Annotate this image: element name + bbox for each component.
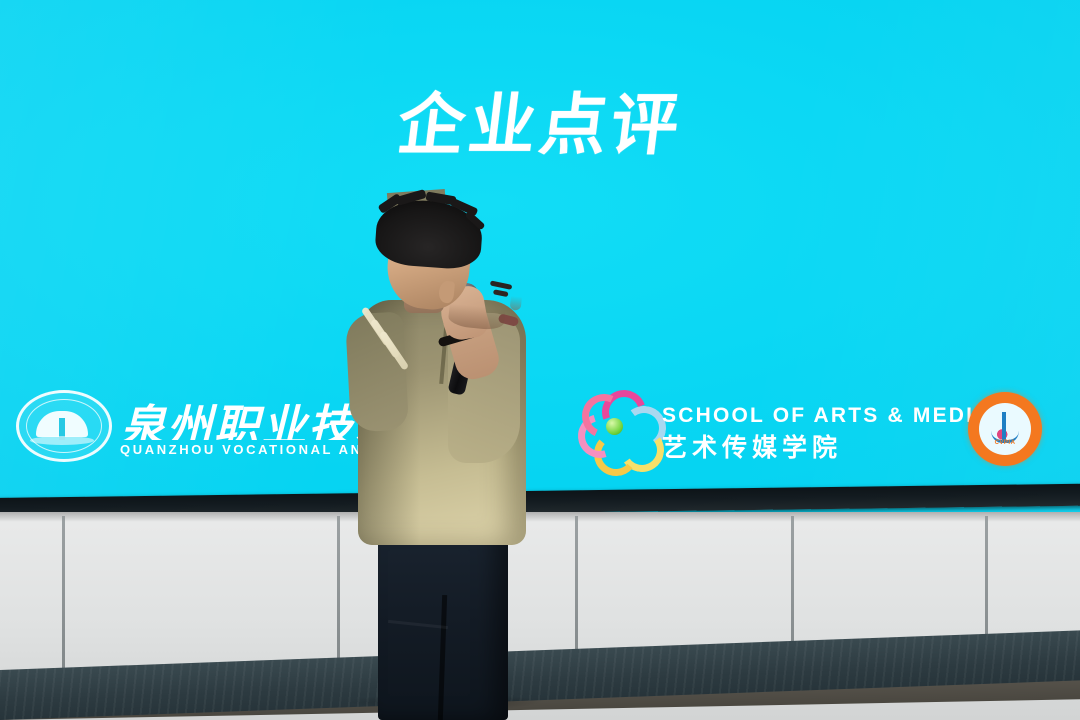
- speaker-eye: [493, 289, 509, 297]
- badge-glyph: [991, 412, 1019, 443]
- university-seal-icon: [14, 388, 114, 466]
- wall-panel-seam: [62, 516, 65, 686]
- school-name-cn: 艺术传媒学院: [662, 428, 842, 464]
- orange-badge-icon: CVPIA: [968, 392, 1042, 466]
- trouser-fold: [388, 620, 448, 629]
- trouser-center-seam: [438, 595, 447, 720]
- seal-wave-glyph: [30, 436, 94, 445]
- speaker-nose: [510, 296, 522, 311]
- presentation-photo: 企业点评 泉州职业技术 QUANZHOU VOCATIONAL AND TECH…: [0, 0, 1080, 720]
- speaker-eyebrow: [490, 280, 513, 289]
- speaker-trousers: [378, 525, 508, 720]
- pinwheel-icon: [576, 388, 654, 460]
- speaker-figure: [330, 195, 560, 720]
- badge-caption: CVPIA: [968, 440, 1042, 446]
- speaker-ear: [438, 280, 455, 303]
- school-name-en: SCHOOL OF ARTS & MEDIA: [662, 404, 992, 428]
- pinwheel-core-sphere: [606, 418, 623, 435]
- slide-title: 企业点评: [0, 92, 1080, 159]
- school-logo: SCHOOL OF ARTS & MEDIA 艺术传媒学院: [576, 384, 906, 468]
